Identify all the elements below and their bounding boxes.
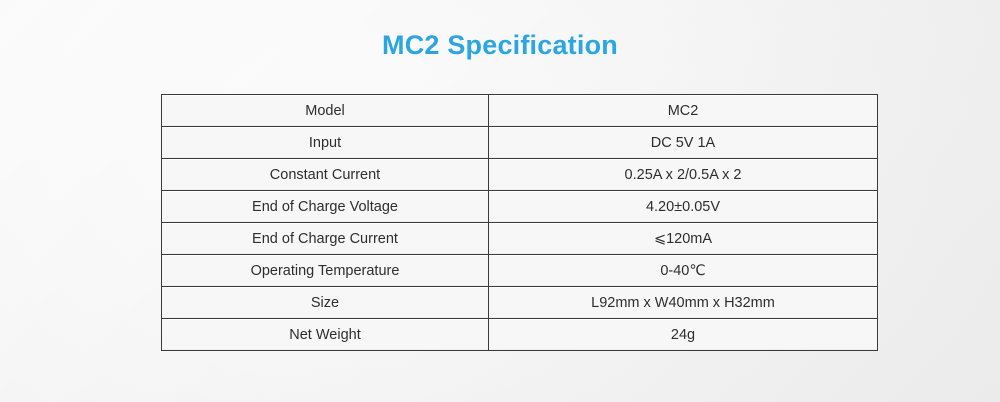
spec-value-operating-temperature: 0-40℃ (489, 255, 878, 287)
table-row: Size L92mm x W40mm x H32mm (162, 287, 878, 319)
table-row: Model MC2 (162, 95, 878, 127)
spec-value-net-weight: 24g (489, 319, 878, 351)
specification-table: Model MC2 Input DC 5V 1A Constant Curren… (161, 94, 878, 351)
page-title: MC2 Specification (0, 28, 1000, 62)
spec-label-end-of-charge-voltage: End of Charge Voltage (162, 191, 489, 223)
spec-label-end-of-charge-current: End of Charge Current (162, 223, 489, 255)
specification-page: MC2 Specification Model MC2 Input DC 5V … (0, 0, 1000, 402)
spec-value-end-of-charge-current: ⩽120mA (489, 223, 878, 255)
table-row: End of Charge Voltage 4.20±0.05V (162, 191, 878, 223)
spec-value-model: MC2 (489, 95, 878, 127)
spec-label-operating-temperature: Operating Temperature (162, 255, 489, 287)
spec-value-size: L92mm x W40mm x H32mm (489, 287, 878, 319)
table-row: End of Charge Current ⩽120mA (162, 223, 878, 255)
spec-label-constant-current: Constant Current (162, 159, 489, 191)
specification-table-container: Model MC2 Input DC 5V 1A Constant Curren… (161, 94, 851, 351)
spec-value-input: DC 5V 1A (489, 127, 878, 159)
table-row: Operating Temperature 0-40℃ (162, 255, 878, 287)
table-row: Net Weight 24g (162, 319, 878, 351)
spec-value-end-of-charge-voltage: 4.20±0.05V (489, 191, 878, 223)
spec-label-model: Model (162, 95, 489, 127)
spec-label-net-weight: Net Weight (162, 319, 489, 351)
table-row: Input DC 5V 1A (162, 127, 878, 159)
spec-label-size: Size (162, 287, 489, 319)
specification-table-body: Model MC2 Input DC 5V 1A Constant Curren… (162, 95, 878, 351)
table-row: Constant Current 0.25A x 2/0.5A x 2 (162, 159, 878, 191)
spec-label-input: Input (162, 127, 489, 159)
spec-value-constant-current: 0.25A x 2/0.5A x 2 (489, 159, 878, 191)
